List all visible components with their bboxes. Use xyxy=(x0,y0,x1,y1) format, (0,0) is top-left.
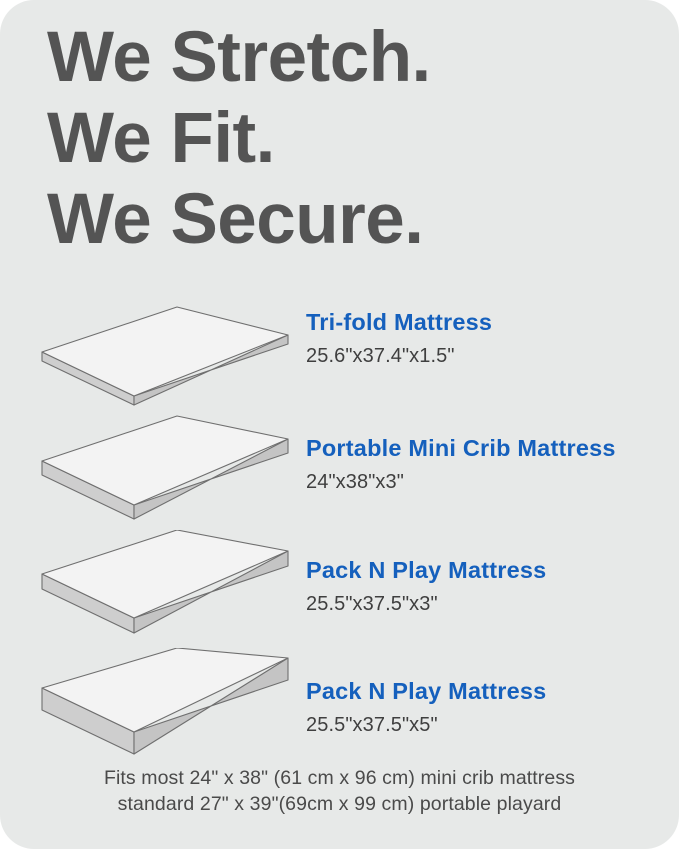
footer-note: Fits most 24" x 38" (61 cm x 96 cm) mini… xyxy=(0,765,679,817)
product-row: Pack N Play Mattress 25.5"x37.5"x5" xyxy=(0,648,679,760)
product-text-block: Portable Mini Crib Mattress 24"x38"x3" xyxy=(306,435,666,494)
product-row: Pack N Play Mattress 25.5"x37.5"x3" xyxy=(0,530,679,642)
mattress-slab-mini-crib-icon xyxy=(34,415,296,527)
mattress-slab-pack-n-play-5in-icon xyxy=(34,648,296,760)
product-dimensions: 24"x38"x3" xyxy=(306,462,666,494)
infographic-panel: We Stretch. We Fit. We Secure. Tri-fold … xyxy=(0,0,679,849)
mattress-slab-pack-n-play-3in-icon xyxy=(34,530,296,642)
product-title: Portable Mini Crib Mattress xyxy=(306,435,666,462)
product-dimensions: 25.5"x37.5"x3" xyxy=(306,584,666,616)
product-text-block: Pack N Play Mattress 25.5"x37.5"x3" xyxy=(306,557,666,616)
headline-line-1: We Stretch. xyxy=(47,17,627,98)
product-text-block: Tri-fold Mattress 25.6"x37.4"x1.5" xyxy=(306,309,666,368)
product-dimensions: 25.6"x37.4"x1.5" xyxy=(306,336,666,368)
footer-line-2: standard 27" x 39"(69cm x 99 cm) portabl… xyxy=(0,791,679,817)
headline-line-3: We Secure. xyxy=(47,179,627,260)
product-row: Portable Mini Crib Mattress 24"x38"x3" xyxy=(0,415,679,527)
product-dimensions: 25.5"x37.5"x5" xyxy=(306,705,666,737)
headline-block: We Stretch. We Fit. We Secure. xyxy=(47,17,627,260)
product-title: Tri-fold Mattress xyxy=(306,309,666,336)
footer-line-1: Fits most 24" x 38" (61 cm x 96 cm) mini… xyxy=(0,765,679,791)
mattress-slab-trifold-icon xyxy=(34,300,296,412)
product-title: Pack N Play Mattress xyxy=(306,557,666,584)
product-text-block: Pack N Play Mattress 25.5"x37.5"x5" xyxy=(306,678,666,737)
headline-line-2: We Fit. xyxy=(47,98,627,179)
product-row: Tri-fold Mattress 25.6"x37.4"x1.5" xyxy=(0,300,679,412)
product-title: Pack N Play Mattress xyxy=(306,678,666,705)
